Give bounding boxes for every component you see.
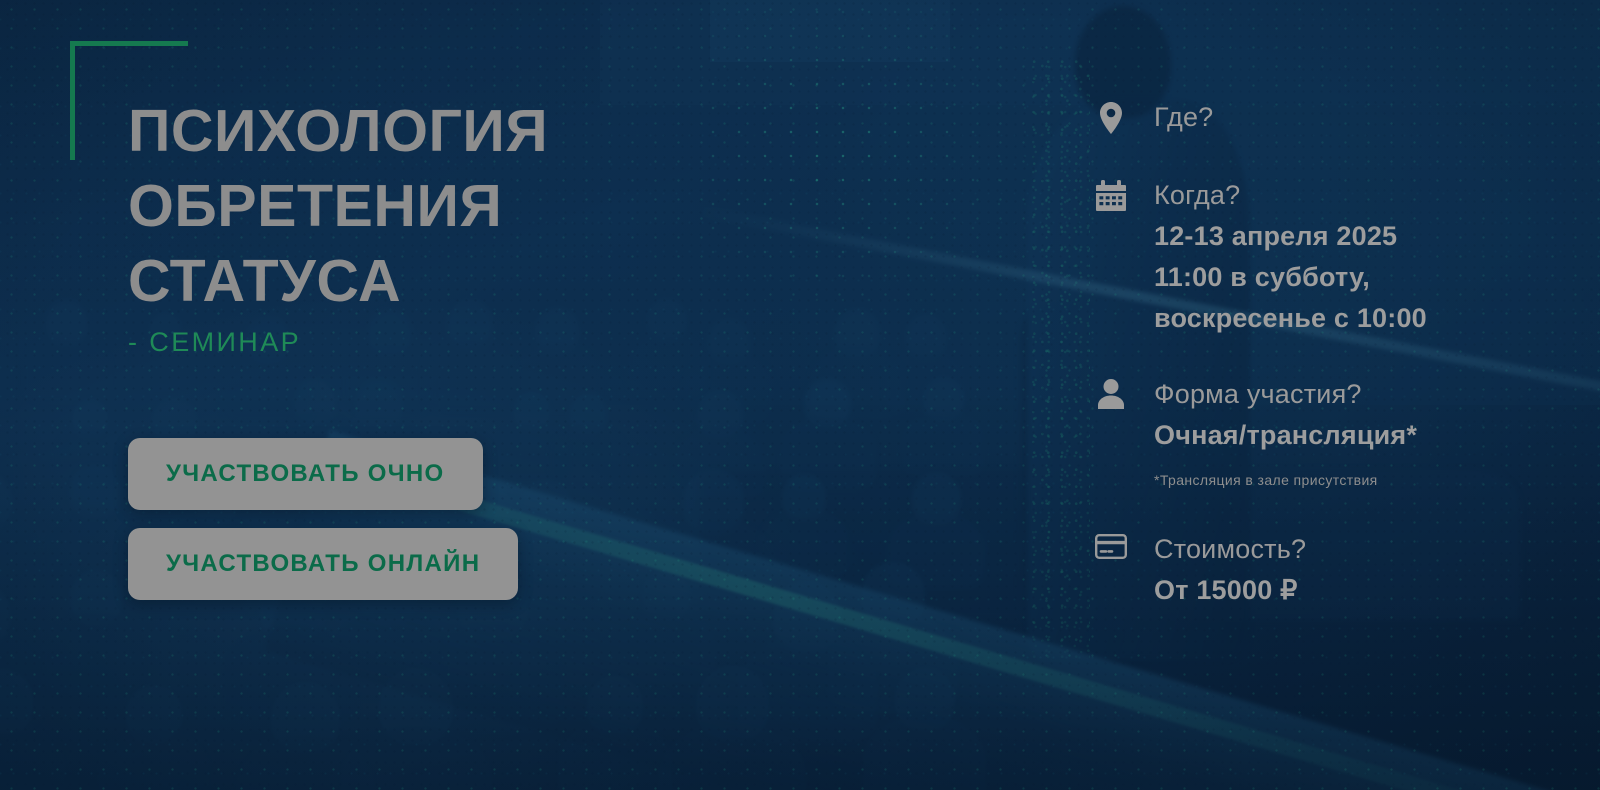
person-icon	[1094, 379, 1128, 413]
detail-format: Форма участия? Очная/трансляция* *Трансл…	[1094, 377, 1534, 488]
detail-date: Когда? 12-13 апреля 2025 11:00 в субботу…	[1094, 178, 1534, 339]
detail-footnote: *Трансляция в зале присутствия	[1154, 472, 1534, 488]
seminar-hero-banner: ПСИХОЛОГИЯ ОБРЕТЕНИЯ СТАТУСА - СЕМИНАР У…	[0, 0, 1600, 790]
detail-question: Где?	[1154, 100, 1534, 134]
detail-price: Стоимость? От 15000 ₽	[1094, 532, 1534, 611]
hero-content: ПСИХОЛОГИЯ ОБРЕТЕНИЯ СТАТУСА - СЕМИНАР У…	[0, 0, 1600, 790]
event-details-panel: Где? Когда? 12-13 апреля 2025 11:00 в су…	[1094, 100, 1534, 611]
detail-location: Где?	[1094, 100, 1534, 134]
detail-question: Когда?	[1154, 178, 1534, 212]
detail-answer: 12-13 апреля 2025 11:00 в субботу, воскр…	[1154, 216, 1534, 339]
page-title: ПСИХОЛОГИЯ ОБРЕТЕНИЯ СТАТУСА	[128, 94, 748, 319]
participate-online-button[interactable]: УЧАСТВОВАТЬ ОНЛАЙН	[128, 528, 518, 600]
calendar-icon	[1094, 180, 1128, 214]
credit-card-icon	[1094, 534, 1128, 568]
map-pin-icon	[1094, 102, 1128, 136]
hero-text-column: ПСИХОЛОГИЯ ОБРЕТЕНИЯ СТАТУСА - СЕМИНАР	[128, 94, 748, 358]
detail-question: Стоимость?	[1154, 532, 1534, 566]
hero-subtitle: - СЕМИНАР	[128, 327, 748, 358]
participate-offline-button[interactable]: УЧАСТВОВАТЬ ОЧНО	[128, 438, 483, 510]
detail-answer: От 15000 ₽	[1154, 570, 1534, 611]
detail-answer: Очная/трансляция*	[1154, 415, 1534, 456]
cta-button-group: УЧАСТВОВАТЬ ОЧНО УЧАСТВОВАТЬ ОНЛАЙН	[128, 438, 518, 600]
detail-question: Форма участия?	[1154, 377, 1534, 411]
